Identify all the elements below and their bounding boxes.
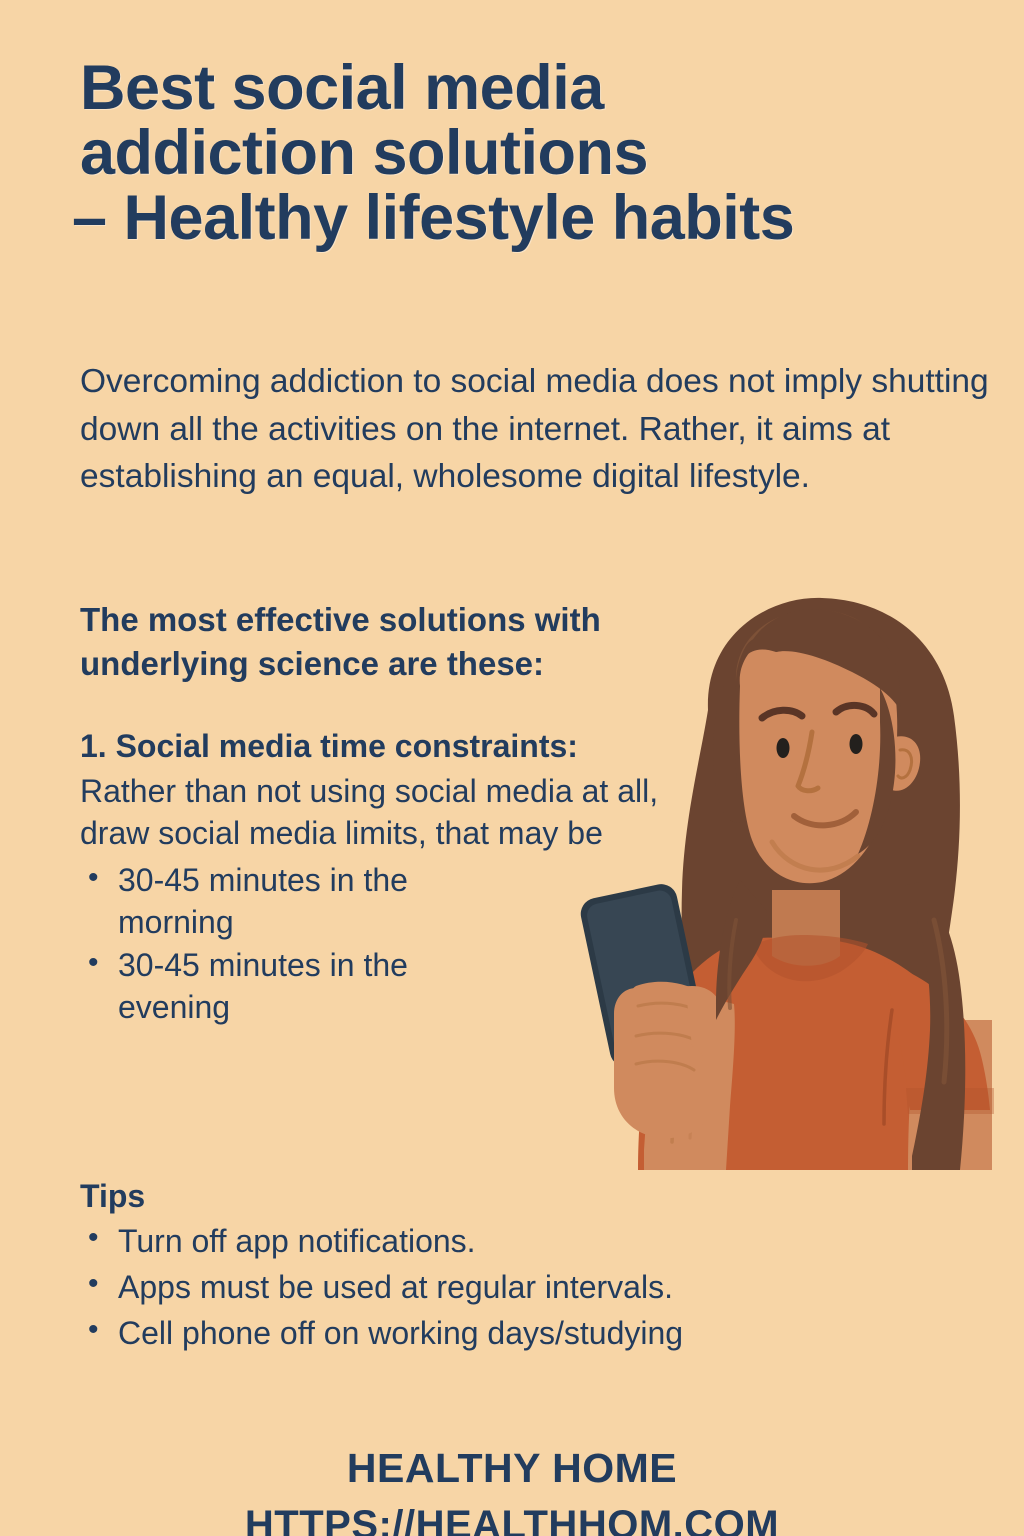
tips-heading: Tips xyxy=(80,1176,960,1216)
page-title: Best social media addiction solutions – … xyxy=(80,56,960,251)
intro-text: Overcoming addiction to social media doe… xyxy=(80,358,1000,501)
infographic-poster: Best social media addiction solutions – … xyxy=(0,0,1024,1536)
list-item: Turn off app notifications. xyxy=(80,1219,960,1265)
footer: HEALTHY HOME HTTPS://HEALTHHOM.COM xyxy=(0,1446,1024,1536)
website-url[interactable]: HTTPS://HEALTHHOM.COM xyxy=(0,1503,1024,1536)
list-item: Cell phone off on working days/studying xyxy=(80,1311,960,1357)
section-1-heading: 1. Social media time constraints: xyxy=(80,726,700,768)
list-item: Apps must be used at regular intervals. xyxy=(80,1265,960,1311)
title-line-2: addiction solutions xyxy=(80,121,960,186)
list-item: 30-45 minutes in the morning xyxy=(80,859,520,944)
section-1-bullet-list: 30-45 minutes in the morning 30-45 minut… xyxy=(80,859,520,1029)
list-item: 30-45 minutes in the evening xyxy=(80,944,520,1029)
brand-name: HEALTHY HOME xyxy=(0,1446,1024,1491)
intro-paragraph: Overcoming addiction to social media doe… xyxy=(80,358,1000,501)
tips-list: Turn off app notifications. Apps must be… xyxy=(80,1219,960,1356)
tips-section: Tips Turn off app notifications. Apps mu… xyxy=(80,1176,960,1356)
section-1-body: Rather than not using social media at al… xyxy=(80,770,700,855)
section-1: 1. Social media time constraints: Rather… xyxy=(80,726,700,1029)
subheading-text: The most effective solutions with underl… xyxy=(80,598,720,685)
title-line-3: – Healthy lifestyle habits xyxy=(72,186,960,251)
subheading: The most effective solutions with underl… xyxy=(80,598,720,685)
title-line-1: Best social media xyxy=(80,56,960,121)
